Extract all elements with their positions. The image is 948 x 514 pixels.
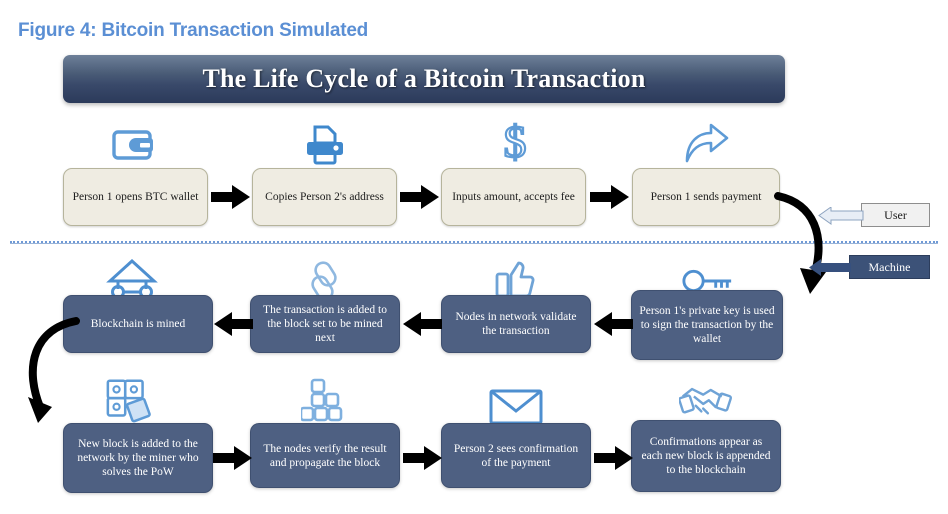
flow-node-label: New block is added to the network by the… — [71, 437, 205, 479]
flow-node-label: The nodes verify the result and propagat… — [258, 442, 392, 470]
legend-user-arrow — [818, 207, 864, 230]
legend-user: User — [861, 203, 930, 227]
flow-node-row3-4[interactable]: Confirmations appear as each new block i… — [631, 420, 781, 492]
flow-node-label: Person 1 opens BTC wallet — [71, 190, 200, 205]
legend-machine-label: Machine — [869, 260, 911, 275]
diagram-title: The Life Cycle of a Bitcoin Transaction — [202, 64, 645, 94]
flow-arrow-right — [400, 183, 439, 211]
flow-arrow-left — [214, 310, 253, 338]
figure-caption: Figure 4: Bitcoin Transaction Simulated — [18, 20, 368, 42]
flow-arrow-right — [403, 444, 442, 472]
flow-arrow-right — [213, 444, 252, 472]
dollar-sign-icon: $ — [488, 118, 542, 164]
puzzle-icon — [104, 378, 158, 424]
flow-node-row2-4[interactable]: Person 1's private key is used to sign t… — [631, 290, 783, 360]
diagram-title-banner: The Life Cycle of a Bitcoin Transaction — [63, 55, 785, 103]
figure-canvas: Figure 4: Bitcoin Transaction Simulated … — [0, 0, 948, 514]
flow-node-label: Person 2 sees confirmation of the paymen… — [449, 442, 583, 470]
flow-node-row1-3[interactable]: Inputs amount, accepts fee — [441, 168, 586, 226]
flow-node-label: Copies Person 2's address — [260, 190, 389, 205]
flow-arrow-right — [211, 183, 250, 211]
flow-node-row3-1[interactable]: New block is added to the network by the… — [63, 423, 213, 493]
flow-node-label: Person 1 sends payment — [640, 190, 772, 205]
flow-node-label: Blockchain is mined — [71, 317, 205, 331]
share-arrow-icon — [679, 120, 733, 166]
flow-arrow-right — [590, 183, 629, 211]
flow-node-row1-1[interactable]: Person 1 opens BTC wallet — [63, 168, 208, 226]
legend-machine-arrow — [808, 259, 852, 282]
flow-node-label: Inputs amount, accepts fee — [449, 190, 578, 205]
flow-node-label: The transaction is added to the block se… — [258, 303, 392, 345]
blocks-icon — [298, 378, 352, 424]
legend-user-label: User — [884, 208, 907, 223]
flow-node-row1-2[interactable]: Copies Person 2's address — [252, 168, 397, 226]
svg-text:$: $ — [504, 117, 527, 165]
flow-node-row3-2[interactable]: The nodes verify the result and propagat… — [250, 423, 400, 488]
flow-node-row2-3[interactable]: Nodes in network validate the transactio… — [441, 295, 591, 353]
flow-arrow-left — [403, 310, 442, 338]
flow-node-row2-2[interactable]: The transaction is added to the block se… — [250, 295, 400, 353]
flow-arrow-right — [594, 444, 633, 472]
flow-node-label: Person 1's private key is used to sign t… — [639, 304, 775, 346]
flow-node-row3-3[interactable]: Person 2 sees confirmation of the paymen… — [441, 423, 591, 488]
flow-node-label: Nodes in network validate the transactio… — [449, 310, 583, 338]
flow-node-label: Confirmations appear as each new block i… — [639, 435, 773, 477]
printer-icon — [298, 122, 352, 168]
flow-arrow-left — [594, 310, 633, 338]
flow-node-row1-4[interactable]: Person 1 sends payment — [632, 168, 780, 226]
wallet-icon — [107, 122, 161, 168]
legend-machine: Machine — [849, 255, 930, 279]
